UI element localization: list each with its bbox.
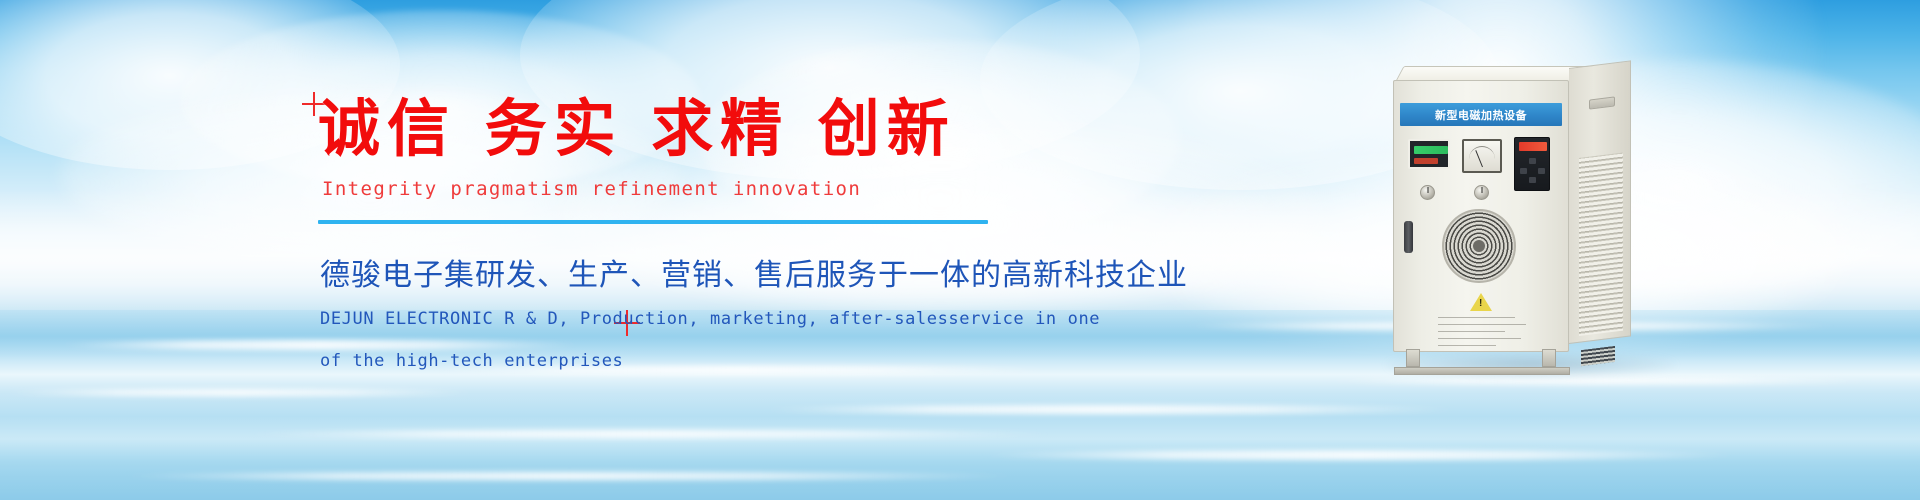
wave-highlight xyxy=(1320,377,1880,384)
spec-line xyxy=(1438,324,1526,325)
wave-highlight xyxy=(0,389,480,396)
control-keypad xyxy=(1514,137,1550,191)
digital-display-meter xyxy=(1408,139,1450,169)
divider-rule xyxy=(318,220,988,224)
cooling-fan-grill xyxy=(1442,209,1516,283)
control-knob xyxy=(1420,185,1435,200)
knob-indicator xyxy=(1481,187,1482,193)
spec-line xyxy=(1438,345,1496,346)
keypad-display xyxy=(1519,142,1547,151)
machine-spec-plate xyxy=(1438,317,1534,359)
control-knob xyxy=(1474,185,1489,200)
gauge-scale-arc xyxy=(1469,146,1495,159)
banner-headline: 诚信 务实 求精 创新 xyxy=(318,96,1038,161)
machine-ventilation-grill xyxy=(1579,153,1623,336)
banner-subtitle-english-line2: of the high-tech enterprises xyxy=(320,346,1038,377)
machine-label-text: 新型电磁加热设备 xyxy=(1435,107,1527,123)
machine-door-handle xyxy=(1404,221,1413,253)
product-machine-image: 新型电磁加热设备 xyxy=(1393,62,1655,370)
banner-subtitle-english-line1: DEJUN ELECTRONIC R & D, Production, mark… xyxy=(320,304,1038,335)
wave-highlight xyxy=(240,430,1060,438)
machine-brand-label: 新型电磁加热设备 xyxy=(1400,103,1562,126)
banner-subtitle: 德骏电子集研发、生产、营销、售后服务于一体的高新科技企业 xyxy=(320,250,1038,294)
keypad-button xyxy=(1529,177,1536,183)
spec-line xyxy=(1438,331,1505,332)
banner-copy: 诚信 务实 求精 创新 Integrity pragmatism refinem… xyxy=(318,96,1038,377)
keypad-button xyxy=(1520,168,1527,174)
banner-headline-english: Integrity pragmatism refinement innovati… xyxy=(322,178,1038,200)
display-segment-red xyxy=(1414,158,1438,164)
display-segment-green xyxy=(1414,146,1448,154)
wave-highlight xyxy=(120,472,1020,480)
analog-gauge-meter xyxy=(1462,139,1502,173)
wave-highlight xyxy=(760,405,1460,414)
warning-triangle-icon xyxy=(1470,293,1492,311)
promo-banner: 诚信 务实 求精 创新 Integrity pragmatism refinem… xyxy=(0,0,1920,500)
keypad-button xyxy=(1538,168,1545,174)
machine-front-panel: 新型电磁加热设备 xyxy=(1393,80,1569,352)
spec-line xyxy=(1438,338,1521,339)
keypad-button xyxy=(1529,158,1536,164)
spec-line xyxy=(1438,317,1515,318)
machine-foot xyxy=(1542,349,1556,367)
machine-base xyxy=(1394,367,1570,375)
wave-highlight xyxy=(980,450,1740,460)
machine-lower-vent xyxy=(1581,346,1615,366)
machine-foot xyxy=(1406,349,1420,367)
knob-indicator xyxy=(1427,187,1428,193)
